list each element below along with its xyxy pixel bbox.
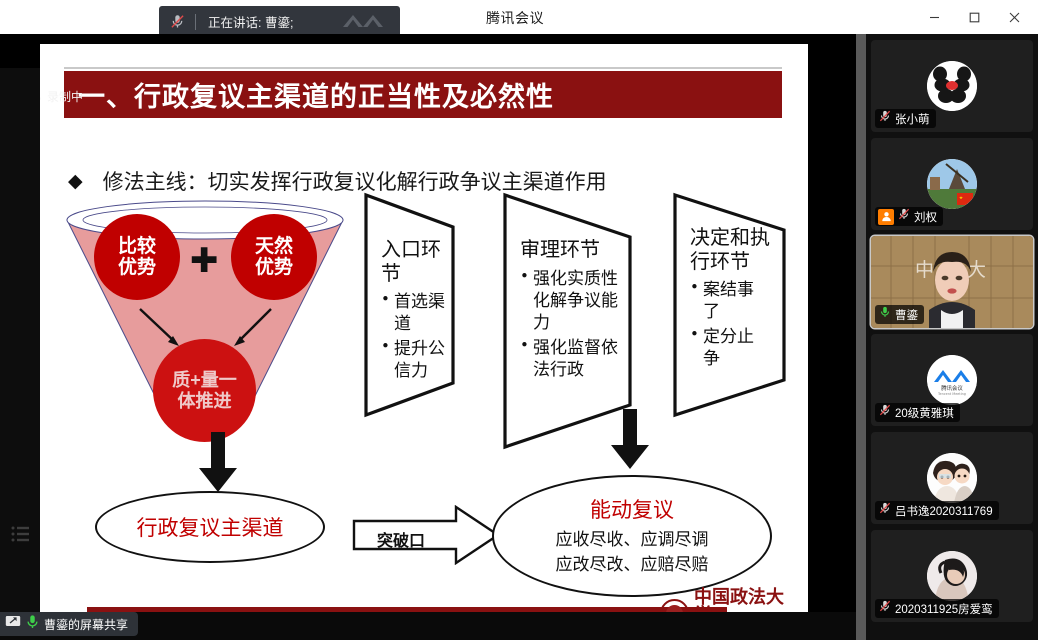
mic-muted-icon bbox=[897, 207, 911, 226]
funnel-down-arrow-icon bbox=[195, 432, 241, 494]
funnel-circle-left: 比较 优势 bbox=[94, 214, 180, 300]
participant-panel: 张小萌 bbox=[866, 34, 1038, 640]
participant-nameplate: 张小萌 bbox=[875, 109, 936, 128]
chevron-1-item-2: 提升公信力 bbox=[381, 338, 454, 382]
mic-muted-icon[interactable] bbox=[159, 13, 195, 30]
participant-nameplate: 曹鎏 bbox=[875, 305, 924, 324]
right-outcome-line-1: 应收尽收、应调尽调 bbox=[556, 528, 709, 553]
avatar bbox=[927, 159, 977, 209]
participant-name: 20级黄雅琪 bbox=[895, 405, 954, 421]
cloud-recording-icon bbox=[40, 90, 41, 102]
right-outcome-line-2: 应改尽改、应赔尽赔 bbox=[556, 553, 709, 578]
mic-muted-icon bbox=[878, 599, 892, 618]
avatar: 腾讯会议 Tencent Meeting bbox=[927, 355, 977, 405]
right-outcome-ellipse: 能动复议 应收尽收、应调尽调 应改尽改、应赔尽赔 bbox=[492, 475, 772, 597]
participant-nameplate: 刘权 bbox=[875, 207, 943, 226]
funnel-circle-bottom-line2: 体推进 bbox=[178, 391, 232, 411]
mic-on-icon bbox=[878, 305, 892, 324]
participant-name: 吕书逸2020311769 bbox=[895, 503, 993, 519]
avatar bbox=[927, 551, 977, 601]
tencent-meeting-window: 腾讯会议 正在讲话: 曹鎏; bbox=[0, 0, 1038, 640]
mic-muted-icon bbox=[878, 403, 892, 422]
left-outcome-ellipse: 行政复议主渠道 bbox=[95, 491, 325, 563]
bottom-bar: 曹鎏的屏幕共享 bbox=[0, 612, 856, 640]
participant-tile[interactable]: 张小萌 bbox=[871, 40, 1033, 132]
avatar bbox=[927, 453, 977, 503]
chevron-1-item-1: 首选渠道 bbox=[381, 291, 454, 335]
funnel-circle-right-line1: 天然 bbox=[255, 236, 293, 257]
strip-separator bbox=[195, 14, 196, 30]
right-outcome-title: 能动复议 bbox=[590, 494, 674, 524]
chevron-step-3: 决定和执行环节 案结事了 定分止争 bbox=[672, 192, 802, 418]
svg-text:大: 大 bbox=[967, 259, 986, 281]
participant-name: 2020311925房爱鸾 bbox=[895, 601, 993, 617]
chevron-down-arrow-icon bbox=[607, 409, 653, 471]
participant-nameplate: 2020311925房爱鸾 bbox=[875, 599, 999, 618]
recording-label: 录制中 bbox=[47, 88, 83, 105]
slide-title: 一、行政复议主渠道的正当性及必然性 bbox=[78, 75, 554, 114]
chevron-2-item-2: 强化监督依法行政 bbox=[520, 337, 624, 381]
participant-name: 刘权 bbox=[914, 209, 937, 225]
window-controls bbox=[914, 0, 1034, 34]
chevron-3-title: 决定和执行环节 bbox=[690, 226, 770, 273]
plus-icon: ✚ bbox=[190, 244, 219, 278]
chevron-2-item-1: 强化实质性化解争议能力 bbox=[520, 268, 624, 334]
close-button[interactable] bbox=[994, 0, 1034, 34]
participant-nameplate: 吕书逸2020311769 bbox=[875, 501, 999, 520]
chevron-step-1: 入口环节 首选渠道 提升公信力 bbox=[363, 192, 496, 418]
svg-text:中: 中 bbox=[915, 259, 934, 281]
maximize-button[interactable] bbox=[954, 0, 994, 34]
left-rail bbox=[0, 68, 40, 640]
screen-share-icon bbox=[5, 615, 21, 634]
participant-tile[interactable]: 2020311925房爱鸾 bbox=[871, 530, 1033, 622]
slide-title-banner: 一、行政复议主渠道的正当性及必然性 bbox=[64, 71, 782, 118]
recording-indicator: 录制中 bbox=[40, 82, 89, 110]
funnel-circle-bottom-line1: 质+量一 bbox=[172, 370, 237, 390]
funnel-circle-right: 天然 优势 bbox=[231, 214, 317, 300]
funnel-diagram: 比较 优势 ✚ 天然 优势 质+量一 体推进 bbox=[55, 192, 365, 452]
host-badge-icon bbox=[878, 209, 894, 225]
screen-share-label: 曹鎏的屏幕共享 bbox=[44, 616, 128, 633]
participant-tile[interactable]: 吕书逸2020311769 bbox=[871, 432, 1033, 524]
panel-divider[interactable] bbox=[856, 34, 866, 640]
breakout-label: 突破口 bbox=[377, 527, 425, 551]
list-menu-icon[interactable] bbox=[10, 523, 32, 545]
banner-top-rule bbox=[64, 67, 782, 69]
chevron-3-item-1: 案结事了 bbox=[690, 279, 770, 323]
participant-tile[interactable]: 刘权 bbox=[871, 138, 1033, 230]
participant-name: 张小萌 bbox=[895, 111, 930, 127]
funnel-circle-right-line2: 优势 bbox=[255, 257, 293, 278]
svg-text:Tencent Meeting: Tencent Meeting bbox=[937, 392, 966, 396]
funnel-circle-left-line2: 优势 bbox=[118, 257, 156, 278]
mic-muted-icon bbox=[878, 501, 892, 520]
chevron-3-item-2: 定分止争 bbox=[690, 326, 770, 370]
funnel-circle-left-line1: 比较 bbox=[118, 236, 156, 257]
chevron-2-title: 审理环节 bbox=[520, 238, 624, 262]
window-title: 腾讯会议 bbox=[486, 8, 544, 28]
mic-on-icon bbox=[26, 614, 39, 634]
diamond-bullet-icon: ◆ bbox=[68, 172, 83, 191]
screen-share-status[interactable]: 曹鎏的屏幕共享 bbox=[0, 612, 138, 636]
minimize-button[interactable] bbox=[914, 0, 954, 34]
svg-text:腾讯会议: 腾讯会议 bbox=[941, 384, 963, 392]
active-speaker-label: 正在讲话: 曹鎏; bbox=[208, 12, 293, 31]
funnel-circle-bottom: 质+量一 体推进 bbox=[153, 339, 256, 442]
participant-name: 曹鎏 bbox=[895, 307, 918, 323]
window-titlebar: 腾讯会议 bbox=[0, 0, 1038, 34]
participant-nameplate: 20级黄雅琪 bbox=[875, 403, 960, 422]
breakout-block-arrow-icon bbox=[352, 505, 500, 565]
presentation-slide: 一、行政复议主渠道的正当性及必然性 录制中 ◆ 修法主线：切实发挥行政复议化解行… bbox=[40, 44, 808, 622]
shared-screen-stage: 一、行政复议主渠道的正当性及必然性 录制中 ◆ 修法主线：切实发挥行政复议化解行… bbox=[0, 34, 856, 640]
avatar bbox=[927, 61, 977, 111]
participant-tile[interactable]: 腾讯会议 Tencent Meeting 20级黄雅琪 bbox=[871, 334, 1033, 426]
participant-tile[interactable]: 中 大 bbox=[871, 236, 1033, 328]
active-speaker-strip[interactable]: 正在讲话: 曹鎏; bbox=[159, 6, 400, 37]
chevron-1-title: 入口环节 bbox=[381, 238, 454, 285]
mic-muted-icon bbox=[878, 109, 892, 128]
left-outcome-text: 行政复议主渠道 bbox=[137, 512, 284, 542]
